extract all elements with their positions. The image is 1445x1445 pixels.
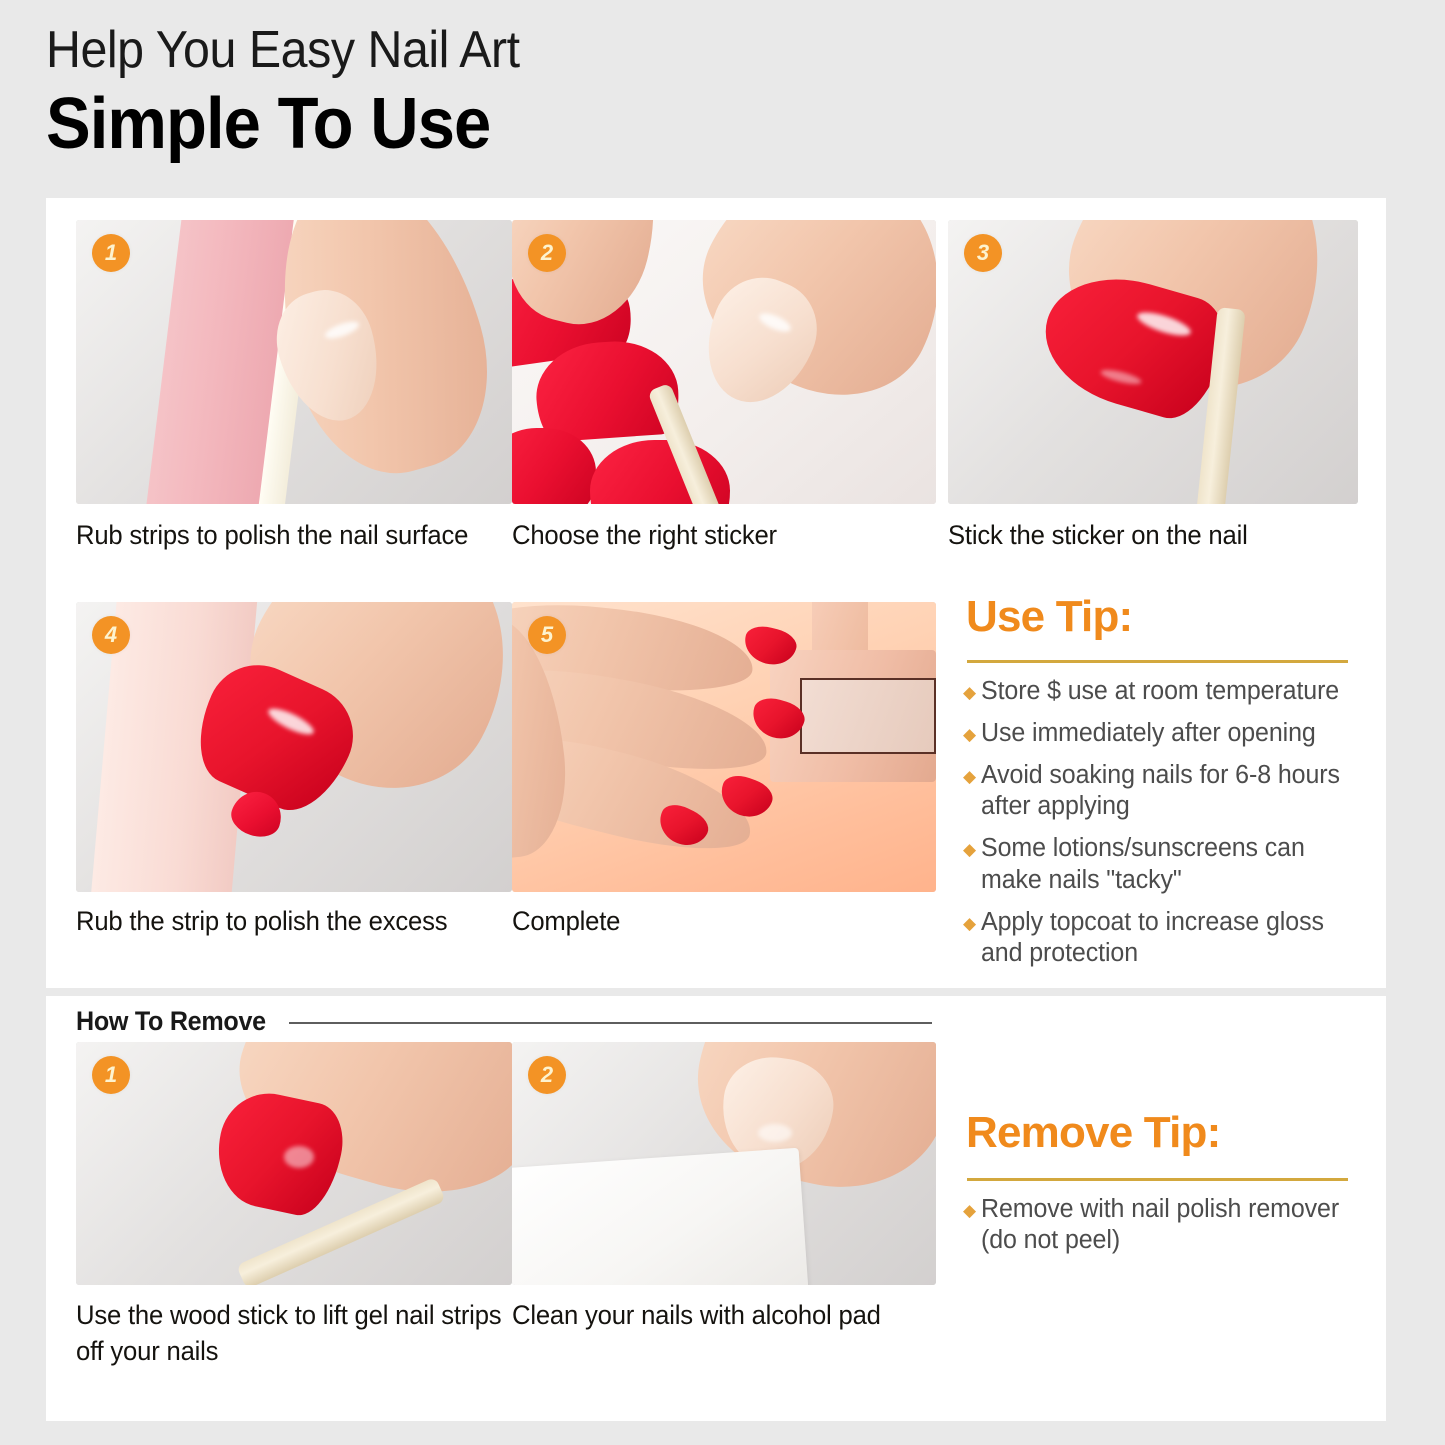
diamond-bullet-icon: ◆ <box>963 1202 976 1219</box>
diamond-bullet-icon: ◆ <box>963 726 976 743</box>
header-eyebrow: Help You Easy Nail Art <box>46 24 520 76</box>
use-tip-item: ◆Apply topcoat to increase gloss and pro… <box>963 907 1379 969</box>
use-tip-item-text: Apply topcoat to increase gloss and prot… <box>981 907 1371 969</box>
remove-badge-2: 2 <box>528 1056 566 1094</box>
step-badge-5: 5 <box>528 616 566 654</box>
diamond-bullet-icon: ◆ <box>963 915 976 932</box>
remove-tip-title: Remove Tip: <box>966 1108 1220 1158</box>
remove-tip-list: ◆Remove with nail polish remover (do not… <box>963 1194 1379 1267</box>
remove-caption-1: Use the wood stick to lift gel nail stri… <box>76 1298 513 1369</box>
use-tip-item: ◆Avoid soaking nails for 6-8 hours after… <box>963 760 1379 822</box>
use-tip-item-text: Avoid soaking nails for 6-8 hours after … <box>981 760 1371 822</box>
step-caption-3: Stick the sticker on the nail <box>948 518 1347 554</box>
diamond-bullet-icon: ◆ <box>963 768 976 785</box>
how-to-remove-label: How To Remove <box>76 1006 266 1037</box>
use-tip-item-text: Store $ use at room temperature <box>981 676 1339 707</box>
step-image-5: 5 <box>512 602 936 892</box>
step-caption-4: Rub the strip to polish the excess <box>76 904 513 940</box>
use-tip-list: ◆Store $ use at room temperature◆Use imm… <box>963 676 1379 980</box>
use-tip-item: ◆Store $ use at room temperature <box>963 676 1379 707</box>
remove-image-1: 1 <box>76 1042 512 1285</box>
use-tip-title: Use Tip: <box>966 592 1132 642</box>
step-badge-4: 4 <box>92 616 130 654</box>
use-tip-item: ◆Use immediately after opening <box>963 718 1379 749</box>
remove-tip-item: ◆Remove with nail polish remover (do not… <box>963 1194 1379 1256</box>
diamond-bullet-icon: ◆ <box>963 841 976 858</box>
use-tip-item-text: Some lotions/sunscreens can make nails "… <box>981 833 1371 895</box>
page-title: Simple To Use <box>46 86 520 164</box>
remove-tip-rule <box>967 1178 1348 1181</box>
step-caption-5: Complete <box>512 904 949 940</box>
infographic-root: Help You Easy Nail Art Simple To Use 1 R… <box>0 0 1445 1445</box>
page-header: Help You Easy Nail Art Simple To Use <box>46 24 555 164</box>
remove-tip-item-text: Remove with nail polish remover (do not … <box>981 1194 1371 1256</box>
use-tip-rule <box>967 660 1348 663</box>
step-image-4: 4 <box>76 602 512 892</box>
step-caption-1: Rub strips to polish the nail surface <box>76 518 513 554</box>
step-image-2: 2 <box>512 220 936 504</box>
use-steps-card: 1 Rub strips to polish the nail surface … <box>46 198 1386 988</box>
remove-image-2: 2 <box>512 1042 936 1285</box>
remove-caption-2: Clean your nails with alcohol pad <box>512 1298 949 1334</box>
use-tip-item: ◆Some lotions/sunscreens can make nails … <box>963 833 1379 895</box>
remove-card: How To Remove 1 Use the wood stick to li… <box>46 996 1386 1421</box>
diamond-bullet-icon: ◆ <box>963 684 976 701</box>
step-badge-1: 1 <box>92 234 130 272</box>
step-image-1: 1 <box>76 220 512 504</box>
step-caption-2: Choose the right sticker <box>512 518 949 554</box>
step-badge-3: 3 <box>964 234 1002 272</box>
step-image-3: 3 <box>948 220 1358 504</box>
remove-badge-1: 1 <box>92 1056 130 1094</box>
use-tip-item-text: Use immediately after opening <box>981 718 1316 749</box>
step-badge-2: 2 <box>528 234 566 272</box>
how-to-remove-rule <box>289 1022 932 1024</box>
